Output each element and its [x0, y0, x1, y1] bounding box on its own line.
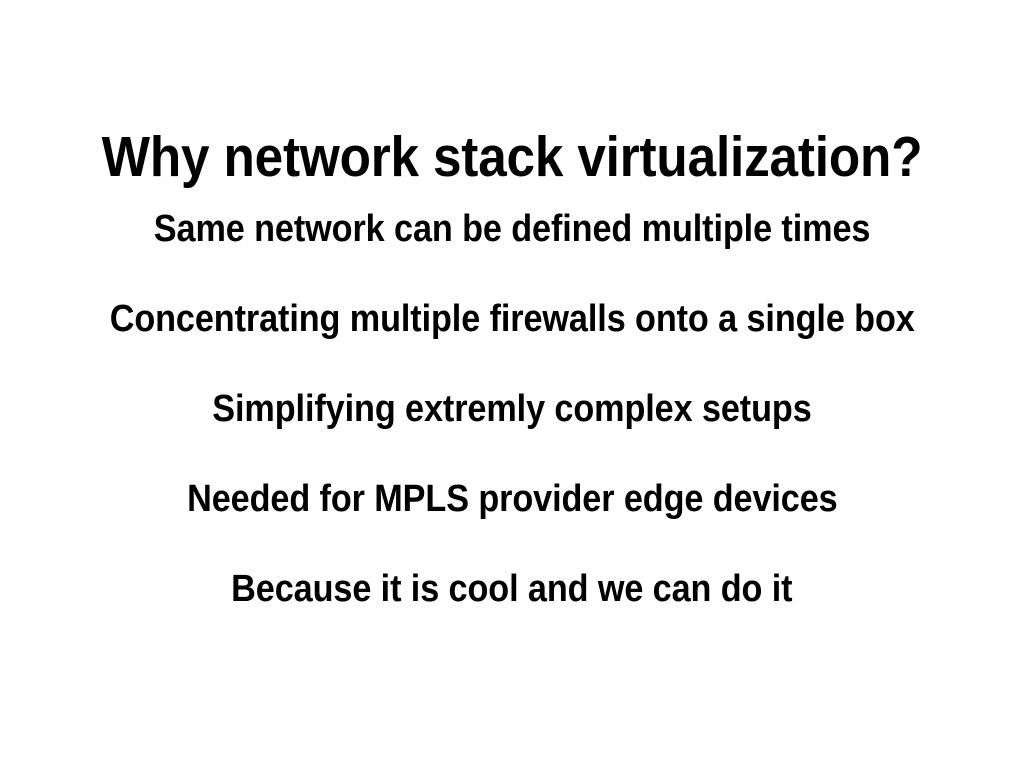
- body-line: Needed for MPLS provider edge devices: [0, 477, 1024, 567]
- body-line-text-1: Same network can be defined multiple tim…: [154, 207, 871, 251]
- body-line: Same network can be defined multiple tim…: [0, 207, 1024, 297]
- body-line-text-5: Because it is cool and we can do it: [231, 567, 792, 611]
- body-line: Simplifying extremly complex setups: [0, 387, 1024, 477]
- body-line: Because it is cool and we can do it: [0, 567, 1024, 657]
- body-line-text-3: Simplifying extremly complex setups: [212, 387, 811, 431]
- body-line-text-2: Concentrating multiple firewalls onto a …: [109, 297, 914, 341]
- body-line: Concentrating multiple firewalls onto a …: [0, 297, 1024, 387]
- body-line-text-4: Needed for MPLS provider edge devices: [187, 477, 837, 521]
- page-title: Why network stack virtualization?: [51, 126, 973, 188]
- presentation-slide: Why network stack virtualization? Same n…: [0, 0, 1024, 768]
- slide-body: Same network can be defined multiple tim…: [0, 207, 1024, 657]
